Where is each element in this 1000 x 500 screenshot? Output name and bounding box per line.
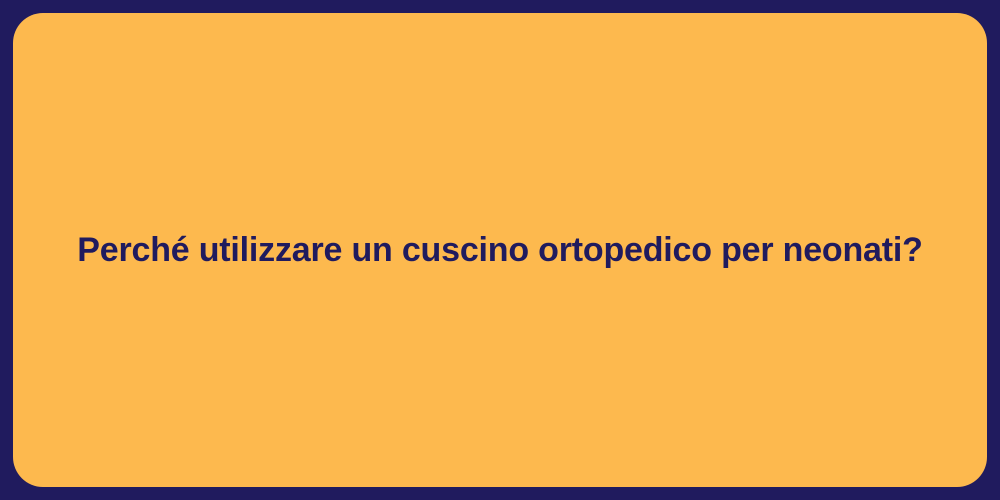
banner-frame: Perché utilizzare un cuscino ortopedico …	[0, 0, 1000, 500]
banner-card: Perché utilizzare un cuscino ortopedico …	[13, 13, 987, 487]
page-title: Perché utilizzare un cuscino ortopedico …	[37, 229, 962, 272]
